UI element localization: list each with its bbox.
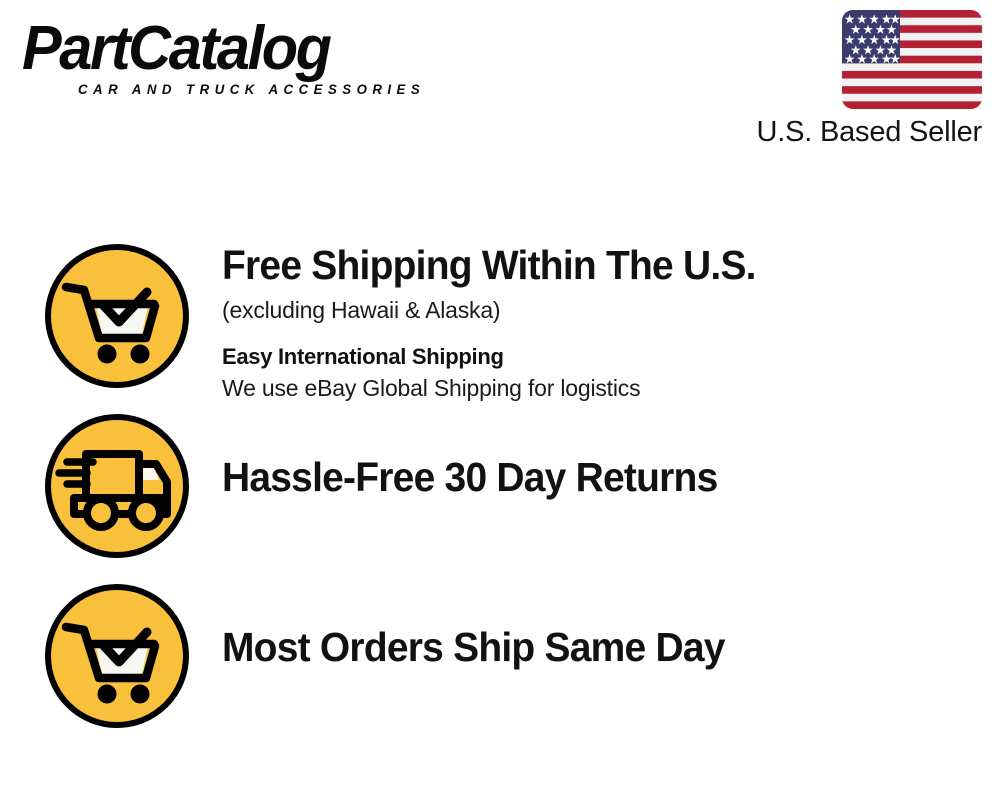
feature-text-returns: Hassle-Free 30 Day Returns xyxy=(222,412,744,500)
feature-title: Hassle-Free 30 Day Returns xyxy=(222,454,717,500)
feature-row-same-day: Most Orders Ship Same Day xyxy=(0,582,1000,730)
us-based-seller-badge: U.S. Based Seller xyxy=(720,10,982,149)
shopping-cart-check-icon xyxy=(43,582,191,730)
feature-title: Free Shipping Within The U.S. xyxy=(222,242,756,288)
promo-banner: PartCatalog CAR AND TRUCK ACCESSORIES xyxy=(0,0,1000,800)
feature-title: Most Orders Ship Same Day xyxy=(222,624,725,670)
shopping-cart-check-icon xyxy=(43,242,191,390)
delivery-truck-icon xyxy=(43,412,191,560)
feature-row-returns: Hassle-Free 30 Day Returns xyxy=(0,412,1000,560)
feature-secondary-text: We use eBay Global Shipping for logistic… xyxy=(222,374,784,403)
brand-wordmark: PartCatalog xyxy=(22,18,473,80)
us-based-seller-label: U.S. Based Seller xyxy=(720,116,982,149)
feature-text-free-shipping: Free Shipping Within The U.S. (excluding… xyxy=(222,242,784,403)
feature-row-free-shipping: Free Shipping Within The U.S. (excluding… xyxy=(0,242,1000,403)
brand-tagline: CAR AND TRUCK ACCESSORIES xyxy=(78,82,484,97)
feature-subtitle: (excluding Hawaii & Alaska) xyxy=(222,295,784,325)
feature-secondary-heading: Easy International Shipping xyxy=(222,343,784,371)
feature-text-same-day: Most Orders Ship Same Day xyxy=(222,582,751,670)
us-flag-icon xyxy=(842,10,982,109)
brand-logo[interactable]: PartCatalog CAR AND TRUCK ACCESSORIES xyxy=(22,18,492,118)
